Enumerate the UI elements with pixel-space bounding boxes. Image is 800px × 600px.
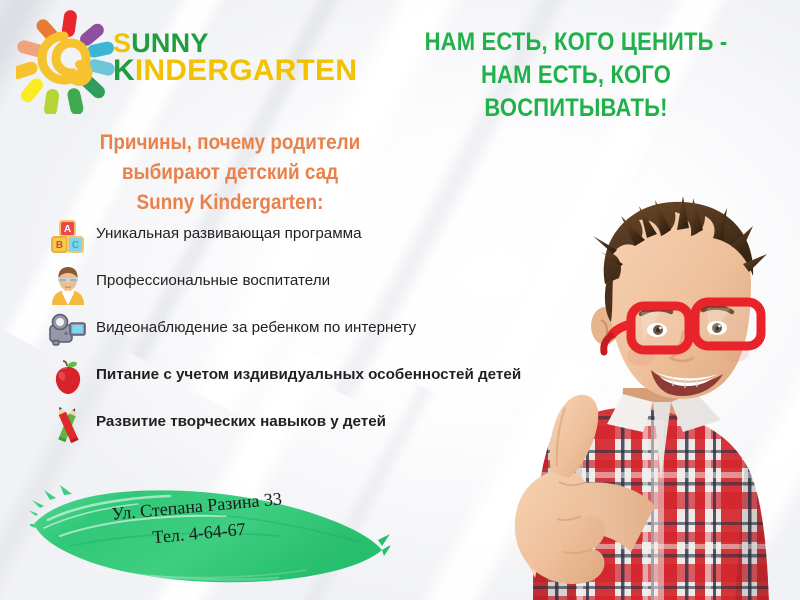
- poster-canvas: SUNNY KINDERGARTEN НАМ ЕСТЬ, КОГО ЦЕНИТЬ…: [0, 0, 800, 600]
- svg-text:A: A: [64, 224, 71, 235]
- logo-wordmark: SUNNY KINDERGARTEN: [113, 30, 357, 86]
- headline: НАМ ЕСТЬ, КОГО ЦЕНИТЬ - НАМ ЕСТЬ, КОГО В…: [391, 26, 761, 125]
- logo-line-kindergarten: KINDERGARTEN: [113, 56, 357, 85]
- apple-icon: [48, 359, 88, 399]
- headline-line-2: НАМ ЕСТЬ, КОГО ВОСПИТЫВАТЬ!: [391, 59, 761, 125]
- subheading: Причины, почему родители выбирают детски…: [55, 128, 404, 217]
- abc-blocks-icon: A B C: [48, 218, 88, 258]
- teacher-person-icon: [48, 265, 88, 305]
- subheading-line-2: выбирают детский сад: [55, 158, 404, 188]
- svg-text:C: C: [72, 240, 79, 251]
- subheading-line-3: Sunny Kindergarten:: [55, 188, 404, 218]
- subheading-line-1: Причины, почему родители: [55, 128, 404, 158]
- headline-line-1: НАМ ЕСТЬ, КОГО ЦЕНИТЬ -: [391, 26, 761, 59]
- svg-text:B: B: [56, 240, 63, 251]
- brand-logo[interactable]: SUNNY KINDERGARTEN: [8, 8, 348, 108]
- logo-line-sunny: SUNNY: [113, 30, 357, 56]
- crossed-pencils-icon: [48, 406, 88, 446]
- sun-spiral-logo-icon: [16, 10, 120, 114]
- boy-with-red-glasses-thumbs-up-photo: [455, 180, 800, 600]
- video-camera-icon: [48, 312, 88, 352]
